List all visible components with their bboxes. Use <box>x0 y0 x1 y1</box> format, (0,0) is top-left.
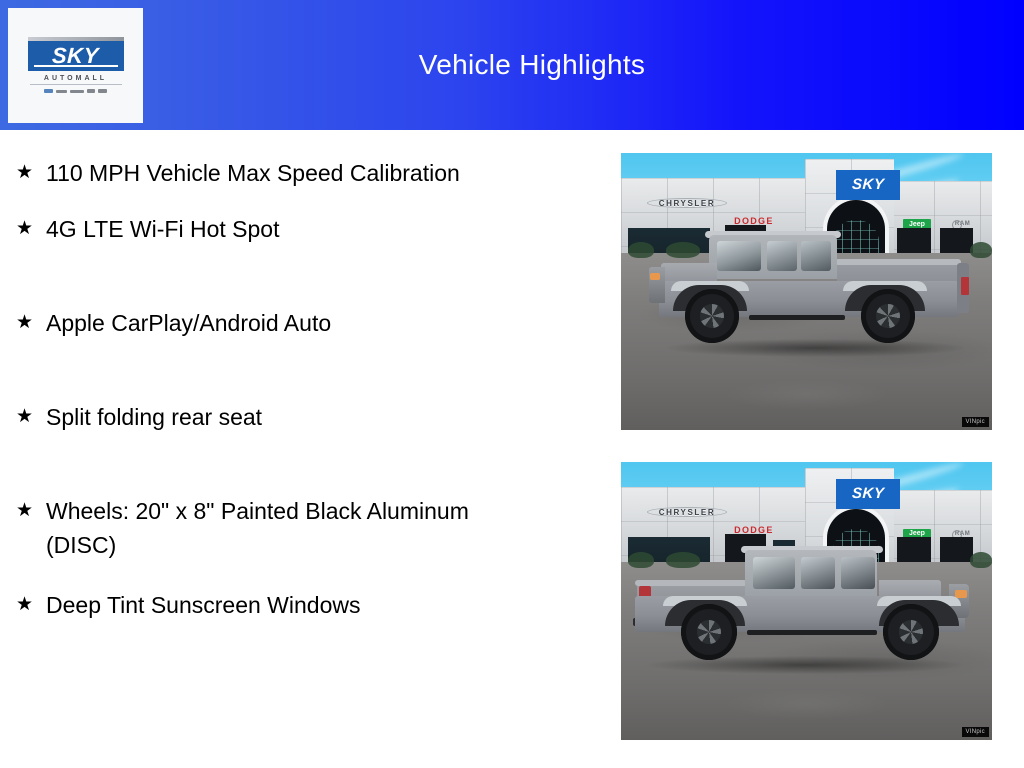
vehicle-photo-front-profile[interactable]: SKY CHRYSLER DODGE Jeep RAM VINpic <box>621 153 992 430</box>
logo-divider <box>30 84 122 85</box>
star-bullet-icon: ★ <box>14 588 46 622</box>
star-bullet-icon: ★ <box>14 212 46 246</box>
sky-sign-label: SKY <box>852 176 885 193</box>
list-item-label: Split folding rear seat <box>46 400 526 434</box>
photo-watermark: VINpic <box>962 417 989 427</box>
side-step-bar <box>749 315 845 320</box>
headlamp-icon <box>650 273 660 280</box>
logo-inner: SKY AUTOMALL <box>28 37 124 94</box>
star-bullet-icon: ★ <box>14 494 46 528</box>
list-item: ★ 110 MPH Vehicle Max Speed Calibration <box>14 156 600 190</box>
headlamp-icon <box>955 590 967 598</box>
vehicle-side-profile <box>627 540 983 668</box>
list-item-label: Apple CarPlay/Android Auto <box>46 306 526 340</box>
photo-watermark: VINpic <box>962 727 989 737</box>
sky-sign-label: SKY <box>852 485 885 502</box>
truck-bed-rail <box>835 259 961 265</box>
side-step-bar <box>747 630 877 635</box>
vehicle-side-profile <box>631 223 983 353</box>
rear-door-window <box>753 557 795 589</box>
star-bullet-icon: ★ <box>14 156 46 190</box>
windshield <box>717 241 761 271</box>
list-item-label: 110 MPH Vehicle Max Speed Calibration <box>46 156 526 190</box>
logo-tagline: AUTOMALL <box>44 75 107 82</box>
chrysler-wordmark-icon <box>44 89 53 93</box>
front-wheel <box>685 289 739 343</box>
logo-brand-strip <box>44 88 107 94</box>
list-item-label: 4G LTE Wi-Fi Hot Spot <box>46 212 526 246</box>
sky-sign: SKY <box>836 170 900 200</box>
front-door-window <box>801 557 835 589</box>
star-bullet-icon: ★ <box>14 400 46 434</box>
list-item: ★ Wheels: 20" x 8" Painted Black Aluminu… <box>14 494 600 562</box>
logo-sky-badge: SKY <box>28 41 124 71</box>
chrysler-sign: CHRYSLER <box>647 197 727 209</box>
rear-door-window <box>801 241 831 271</box>
logo-sky-wrap: SKY <box>28 37 124 71</box>
list-item-label: Deep Tint Sunscreen Windows <box>46 588 526 622</box>
rear-wheel <box>681 604 737 660</box>
logo-brand-text: SKY <box>52 45 100 67</box>
taillamp-icon <box>961 277 969 295</box>
vehicle-highlights-list: ★ 110 MPH Vehicle Max Speed Calibration … <box>0 130 600 768</box>
slide-header-bar: Vehicle Highlights <box>0 0 1024 130</box>
rear-wheel <box>861 289 915 343</box>
vehicle-photo-rear-profile[interactable]: SKY CHRYSLER DODGE Jeep RAM VINpic <box>621 462 992 740</box>
front-door-window <box>767 241 797 271</box>
page-title: Vehicle Highlights <box>0 0 1024 130</box>
truck-bed-rail <box>635 580 747 586</box>
list-item: ★ Apple CarPlay/Android Auto <box>14 306 600 340</box>
list-item: ★ 4G LTE Wi-Fi Hot Spot <box>14 212 600 246</box>
chrysler-sign: CHRYSLER <box>647 506 727 518</box>
windshield <box>841 557 875 589</box>
star-bullet-icon: ★ <box>14 306 46 340</box>
sky-sign: SKY <box>836 479 900 509</box>
list-item: ★ Deep Tint Sunscreen Windows <box>14 588 600 622</box>
list-item: ★ Split folding rear seat <box>14 400 600 434</box>
logo-underline <box>34 65 118 67</box>
jeep-wordmark-icon <box>87 89 95 93</box>
ram-wordmark-icon <box>70 90 84 93</box>
front-wheel <box>883 604 939 660</box>
dodge-wordmark-icon <box>56 90 67 93</box>
list-item-label: Wheels: 20" x 8" Painted Black Aluminum … <box>46 494 526 562</box>
dealer-logo[interactable]: SKY AUTOMALL <box>8 8 143 123</box>
fiat-wordmark-icon <box>98 89 107 93</box>
